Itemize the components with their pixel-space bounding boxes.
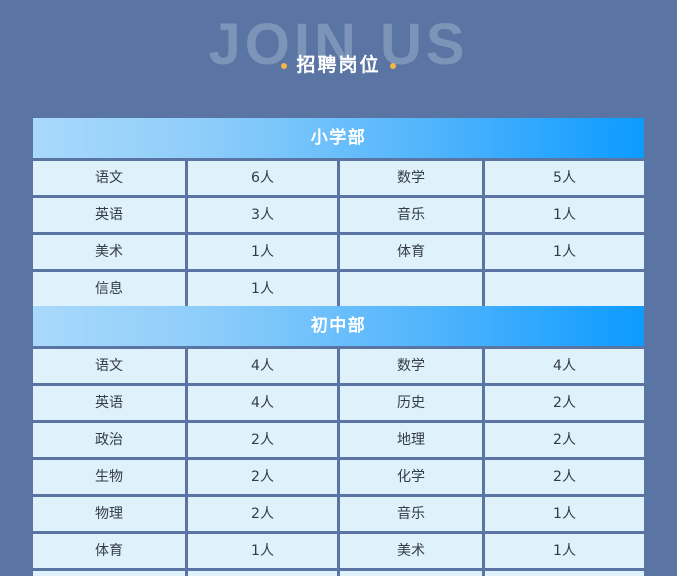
- positions-section: 小学部语文6人数学5人英语3人音乐1人美术1人体育1人信息1人: [33, 118, 644, 306]
- table-row: 信息1人: [33, 571, 644, 576]
- headcount-cell: 2人: [485, 460, 644, 494]
- section-header: 初中部: [33, 306, 644, 346]
- page-banner: JOIN US 招聘岗位: [0, 0, 677, 112]
- headcount-cell: 1人: [485, 534, 644, 568]
- headcount-cell: 2人: [188, 460, 337, 494]
- headcount-cell: 4人: [188, 349, 337, 383]
- subject-cell: [340, 272, 482, 306]
- table-row: 生物2人化学2人: [33, 460, 644, 494]
- subject-cell: [340, 571, 482, 576]
- headcount-cell: 1人: [485, 235, 644, 269]
- headcount-cell: 6人: [188, 161, 337, 195]
- positions-section: 初中部语文4人数学4人英语4人历史2人政治2人地理2人生物2人化学2人物理2人音…: [33, 306, 644, 576]
- subject-cell: 语文: [33, 349, 185, 383]
- headcount-cell: 4人: [188, 386, 337, 420]
- table-row: 英语4人历史2人: [33, 386, 644, 420]
- subject-cell: 英语: [33, 386, 185, 420]
- table-row: 物理2人音乐1人: [33, 497, 644, 531]
- table-row: 美术1人体育1人: [33, 235, 644, 269]
- table-row: 体育1人美术1人: [33, 534, 644, 568]
- page-title: 招聘岗位: [0, 56, 677, 75]
- headcount-cell: 1人: [188, 534, 337, 568]
- headcount-cell: 1人: [485, 198, 644, 232]
- headcount-cell: [485, 272, 644, 306]
- subject-cell: 体育: [33, 534, 185, 568]
- page-title-label: 招聘岗位: [296, 56, 380, 75]
- subject-cell: 音乐: [340, 198, 482, 232]
- headcount-cell: 1人: [188, 235, 337, 269]
- subject-cell: 政治: [33, 423, 185, 457]
- headcount-cell: 2人: [485, 386, 644, 420]
- headcount-cell: 2人: [485, 423, 644, 457]
- table-row: 政治2人地理2人: [33, 423, 644, 457]
- subject-cell: 英语: [33, 198, 185, 232]
- subject-cell: 音乐: [340, 497, 482, 531]
- headcount-cell: 1人: [188, 272, 337, 306]
- headcount-cell: 5人: [485, 161, 644, 195]
- headcount-cell: 4人: [485, 349, 644, 383]
- title-dot-right-icon: [390, 63, 396, 69]
- subject-cell: 体育: [340, 235, 482, 269]
- subject-cell: 信息: [33, 571, 185, 576]
- subject-cell: 地理: [340, 423, 482, 457]
- headcount-cell: 3人: [188, 198, 337, 232]
- table-row: 英语3人音乐1人: [33, 198, 644, 232]
- headcount-cell: [485, 571, 644, 576]
- headcount-cell: 1人: [188, 571, 337, 576]
- table-row: 语文4人数学4人: [33, 349, 644, 383]
- subject-cell: 语文: [33, 161, 185, 195]
- headcount-cell: 2人: [188, 423, 337, 457]
- subject-cell: 数学: [340, 161, 482, 195]
- table-row: 信息1人: [33, 272, 644, 306]
- subject-cell: 历史: [340, 386, 482, 420]
- headcount-cell: 2人: [188, 497, 337, 531]
- positions-tables: 小学部语文6人数学5人英语3人音乐1人美术1人体育1人信息1人初中部语文4人数学…: [33, 118, 644, 576]
- subject-cell: 物理: [33, 497, 185, 531]
- table-row: 语文6人数学5人: [33, 161, 644, 195]
- subject-cell: 数学: [340, 349, 482, 383]
- section-header: 小学部: [33, 118, 644, 158]
- subject-cell: 生物: [33, 460, 185, 494]
- subject-cell: 信息: [33, 272, 185, 306]
- subject-cell: 美术: [33, 235, 185, 269]
- headcount-cell: 1人: [485, 497, 644, 531]
- subject-cell: 美术: [340, 534, 482, 568]
- subject-cell: 化学: [340, 460, 482, 494]
- title-dot-left-icon: [281, 63, 287, 69]
